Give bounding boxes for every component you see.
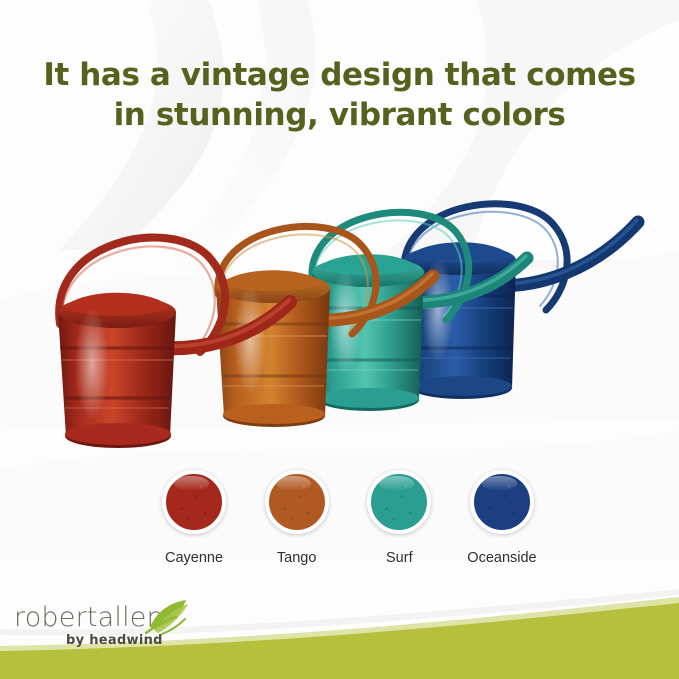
headline-line-1: It has a vintage design that comes	[43, 57, 635, 93]
swatch-label-oceanside: Oceanside	[467, 550, 536, 566]
swatch-label-tango: Tango	[277, 550, 317, 566]
swatch-gloss	[276, 476, 311, 491]
headline-line-2: in stunning, vibrant colors	[0, 96, 679, 136]
swatch-oceanside[interactable]: Oceanside	[456, 470, 548, 570]
headline: It has a vintage design that comes in st…	[0, 56, 679, 135]
swatch-surf[interactable]: Surf	[353, 470, 445, 570]
swatch-gloss	[379, 476, 414, 491]
swatch-label-surf: Surf	[386, 550, 413, 566]
swatch-disc-surf[interactable]	[367, 470, 431, 534]
swatch-gloss	[174, 476, 209, 491]
watering-cans-photo	[0, 150, 679, 450]
swatch-tango[interactable]: Tango	[251, 470, 343, 570]
swatch-cayenne[interactable]: Cayenne	[148, 470, 240, 570]
swatch-disc-cayenne[interactable]	[162, 470, 226, 534]
product-marketing-image: It has a vintage design that comes in st…	[0, 0, 679, 679]
swatch-gloss	[482, 476, 517, 491]
brand-logo[interactable]: robertallen by headwind	[14, 602, 194, 654]
swatch-disc-tango[interactable]	[265, 470, 329, 534]
color-swatch-row: Cayenne Tango Surf Oceanside	[148, 470, 548, 570]
swatch-disc-oceanside[interactable]	[470, 470, 534, 534]
swatch-label-cayenne: Cayenne	[165, 550, 223, 566]
leaf-icon	[142, 597, 194, 637]
